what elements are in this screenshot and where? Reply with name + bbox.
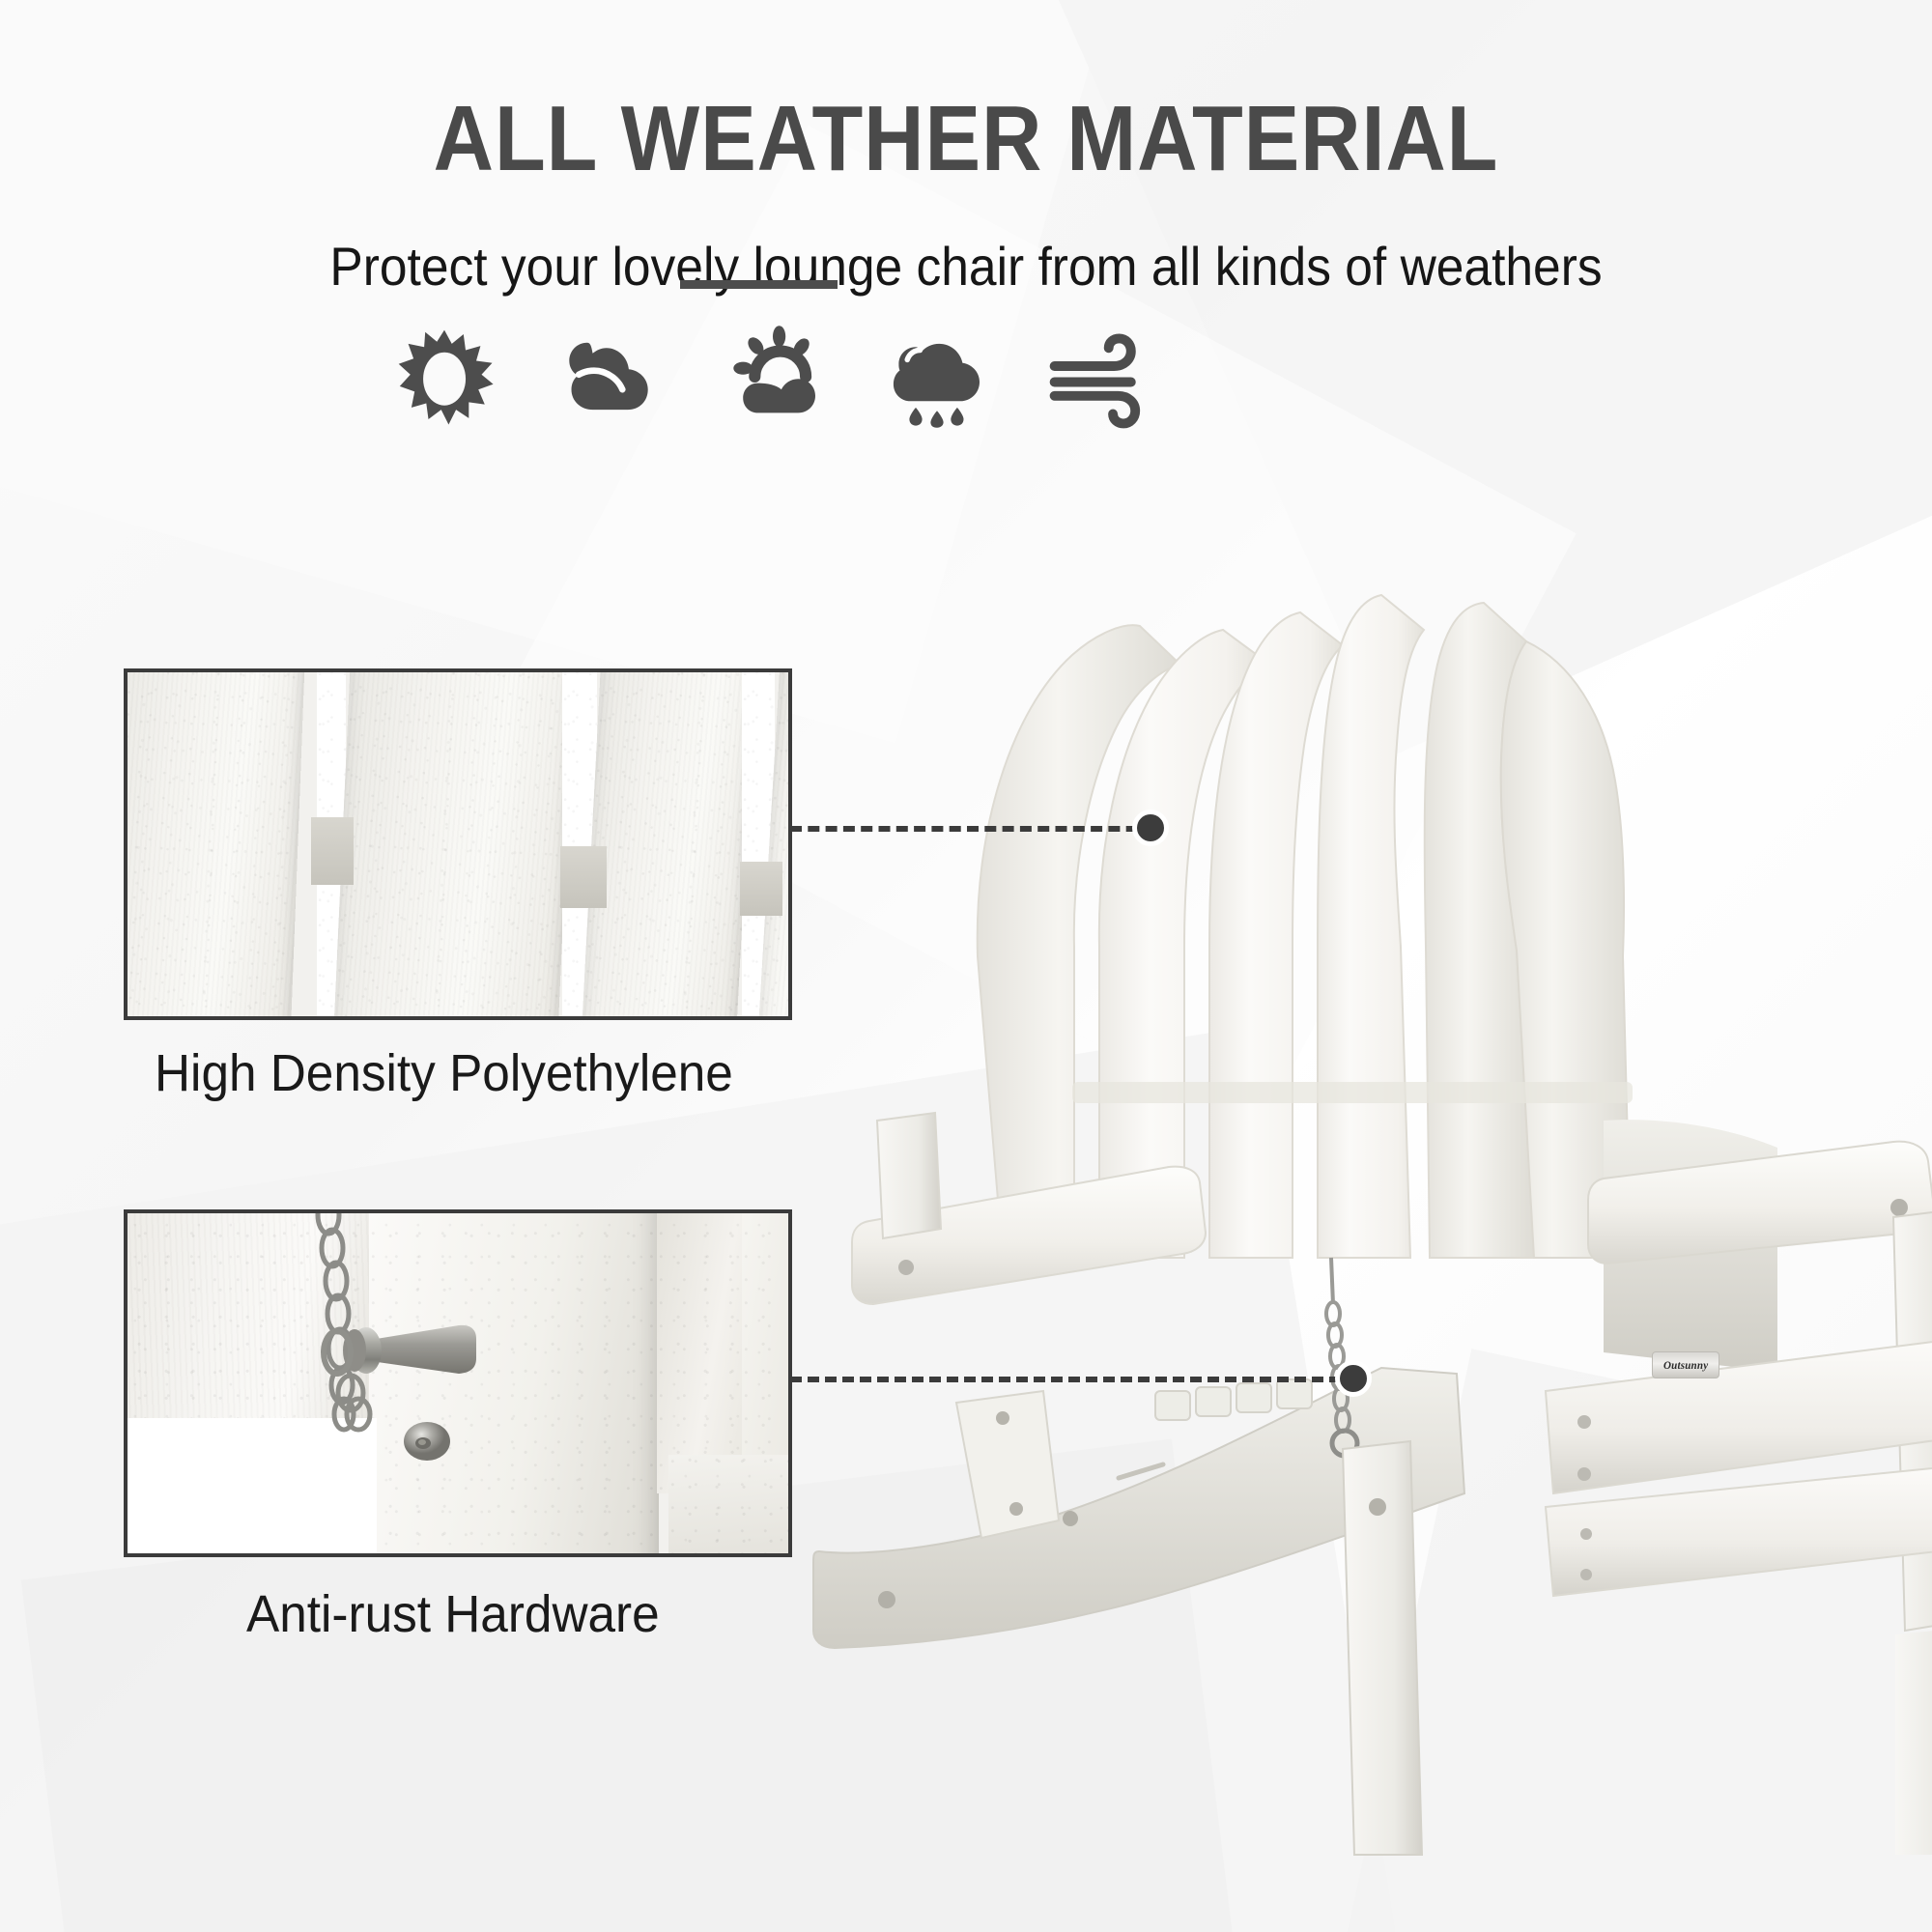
chair-left-arm-post xyxy=(877,1113,941,1238)
hardware-right-board-a xyxy=(657,1209,744,1493)
hardware-right-board-c xyxy=(668,1455,792,1557)
detail-photo-hdpe xyxy=(124,668,792,1020)
hardware-right-board-b xyxy=(742,1209,792,1464)
chair-hinge-bracket xyxy=(956,1391,1059,1538)
cloud-icon xyxy=(551,324,667,430)
brand-badge-label: Outsunny xyxy=(1663,1358,1708,1373)
brand-badge: Outsunny xyxy=(1652,1351,1719,1378)
hdpe-batten-1 xyxy=(311,817,354,885)
hdpe-slat-1 xyxy=(124,668,305,1020)
hardware-locking-pin-icon xyxy=(316,1298,509,1414)
rain-cloud-icon xyxy=(879,324,995,430)
callout-dot-hardware xyxy=(1335,1360,1372,1397)
promo-image-canvas: ALL WEATHER MATERIAL Protect your lovely… xyxy=(0,0,1932,1932)
chair-back-batten xyxy=(1072,1082,1633,1103)
hardware-screw-icon xyxy=(400,1414,454,1468)
chair-rear-leg xyxy=(1895,1629,1932,1855)
wind-icon xyxy=(1043,324,1159,430)
hdpe-batten-2 xyxy=(560,846,607,908)
armrest-screw-right xyxy=(1890,1199,1908,1216)
page-title: ALL WEATHER MATERIAL xyxy=(97,93,1835,185)
hdpe-batten-3 xyxy=(740,862,782,916)
callout-dot-hdpe xyxy=(1132,810,1169,846)
callout-line-hdpe xyxy=(790,826,1155,832)
product-chair-illustration xyxy=(927,541,1932,1855)
weather-icon-row xyxy=(386,319,1159,435)
chair-back-slats xyxy=(978,595,1534,1258)
detail-photo-hardware xyxy=(124,1209,792,1557)
sun-behind-cloud-icon xyxy=(715,324,831,430)
hardware-background-cutout xyxy=(124,1418,377,1557)
title-divider xyxy=(680,280,838,289)
page-subtitle: Protect your lovely lounge chair from al… xyxy=(77,237,1855,297)
hdpe-slat-2 xyxy=(332,668,575,1020)
armrest-screw-left xyxy=(898,1260,914,1275)
sun-icon xyxy=(386,324,502,430)
callout-line-hardware xyxy=(790,1377,1358,1382)
caption-hardware: Anti-rust Hardware xyxy=(246,1584,660,1644)
hdpe-slat-3 xyxy=(581,668,756,1020)
caption-hdpe: High Density Polyethylene xyxy=(155,1043,733,1103)
